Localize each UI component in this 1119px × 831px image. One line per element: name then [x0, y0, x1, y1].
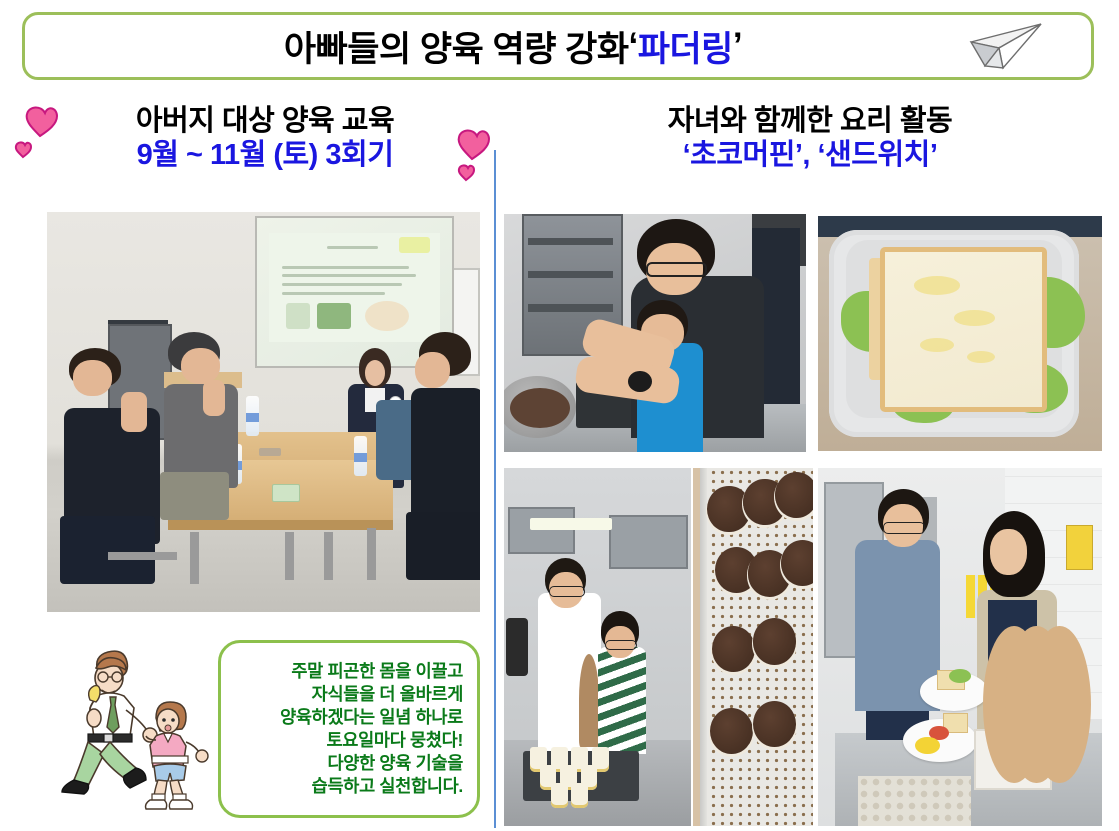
note-line-6: 습득하고 실천합니다.	[312, 775, 463, 798]
father-and-child-walking-illustration	[52, 636, 212, 816]
father-daughter-making-sandwiches-photo	[818, 468, 1102, 826]
note-line-1: 주말 피곤한 몸을 이끌고	[291, 660, 463, 683]
slide-title-main: 아빠들의 양육 역량 강화	[284, 21, 629, 72]
right-column-heading: 자녀와 함께한 요리 활동 ‘초코머핀’, ‘샌드위치’	[520, 105, 1100, 172]
note-line-2: 자식들을 더 올바르게	[312, 683, 463, 706]
note-line-3: 양육하겠다는 일념 하나로	[280, 706, 463, 729]
column-divider	[494, 150, 496, 828]
note-line-5: 다양한 양육 기술을	[327, 752, 463, 775]
finished-sandwich-in-container-photo	[818, 216, 1102, 451]
father-son-piping-batter-photo	[504, 468, 691, 826]
right-heading-line1: 자녀와 함께한 요리 활동	[520, 105, 1100, 139]
left-heading-line2: 9월 ~ 11월 (토) 3회기	[60, 139, 470, 173]
father-son-filling-muffin-cups-photo	[504, 214, 806, 452]
program-description-note: 주말 피곤한 몸을 이끌고 자식들을 더 올바르게 양육하겠다는 일념 하나로 …	[218, 640, 480, 818]
fathers-parenting-class-photo	[47, 212, 480, 612]
baked-chocolate-muffins-tray-photo	[693, 468, 813, 826]
right-heading-line2: ‘초코머핀’, ‘샌드위치’	[520, 139, 1100, 173]
paper-plane-icon	[969, 22, 1043, 70]
slide-title-quote-close: ’	[733, 26, 742, 66]
slide-title-quote-open: ‘	[629, 26, 638, 66]
slide-title-accent: 파더링	[638, 21, 733, 72]
left-column-heading: 아버지 대상 양육 교육 9월 ~ 11월 (토) 3회기	[60, 105, 470, 172]
note-line-4: 토요일마다 뭉쳤다!	[327, 729, 464, 752]
left-heading-line1: 아버지 대상 양육 교육	[60, 105, 470, 139]
slide-title-box: 아빠들의 양육 역량 강화 ‘파더링’	[22, 12, 1094, 80]
slide-title: 아빠들의 양육 역량 강화 ‘파더링’	[25, 15, 1091, 77]
